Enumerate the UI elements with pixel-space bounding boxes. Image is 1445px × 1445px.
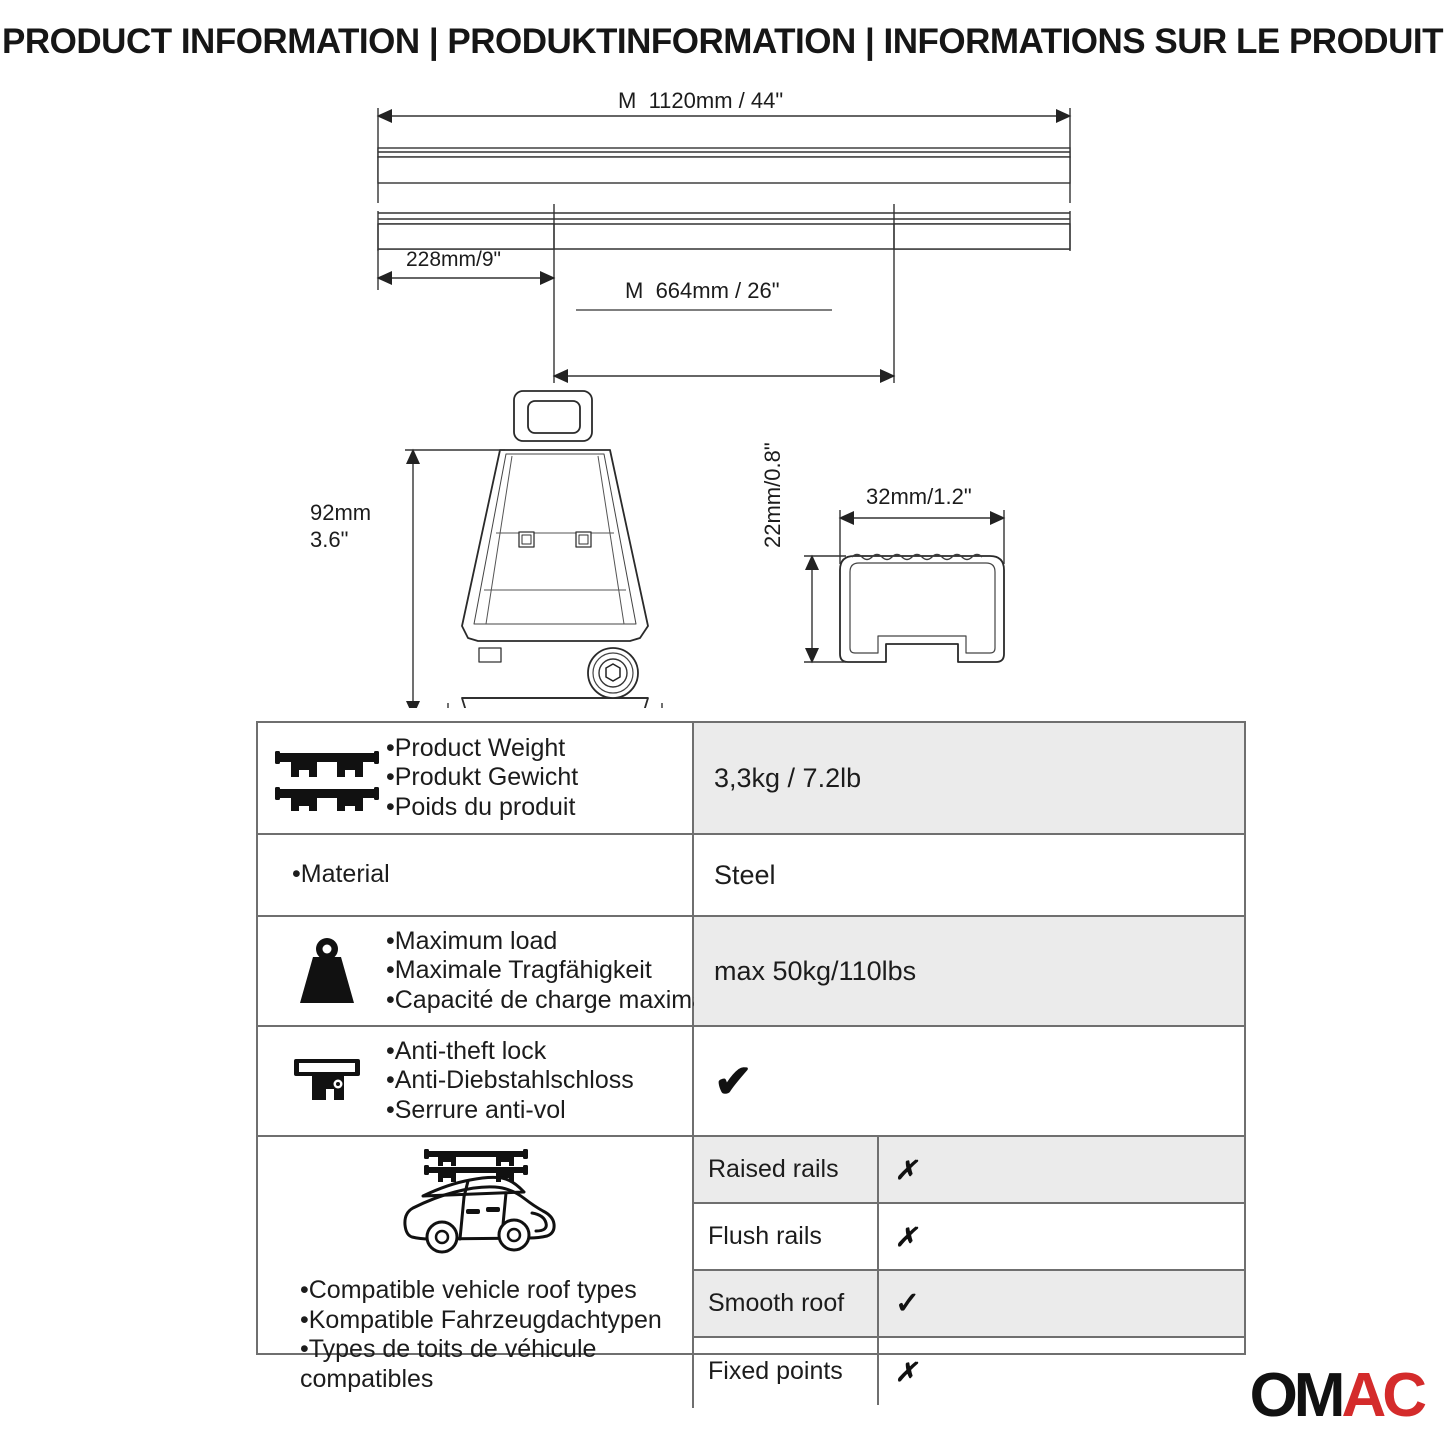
logo-text-dark: OM [1250, 1361, 1342, 1430]
crossbars-icon [268, 745, 386, 811]
table-row-max-load: •Maximum load •Maximale Tragfähigkeit •C… [258, 917, 1244, 1027]
roof-type-flush-rails: Flush rails ✗ [694, 1204, 1244, 1271]
dim-bar-spacing: M 664mm / 26" [625, 278, 780, 304]
omac-logo: OMAC [1250, 1365, 1423, 1427]
row-labels: •Anti-theft lock •Anti-Diebstahlschloss … [386, 1037, 634, 1126]
label-de: •Maximale Tragfähigkeit [386, 956, 725, 986]
roof-type-value: ✗ [879, 1204, 1244, 1269]
row-value-anti-theft-lock: ✔ [694, 1027, 1244, 1135]
row-labels: •Product Weight •Produkt Gewicht •Poids … [386, 734, 578, 823]
dim-bar-length: M 1120mm / 44" [618, 88, 783, 114]
label-en: •Anti-theft lock [386, 1037, 634, 1067]
label-de: •Produkt Gewicht [386, 763, 578, 793]
lock-icon [268, 1053, 386, 1109]
check-icon: ✔ [714, 1058, 753, 1104]
label-en: •Material [292, 860, 390, 890]
roof-type-value: ✓ [879, 1271, 1244, 1336]
label-en: •Product Weight [386, 734, 578, 764]
label-de: •Kompatible Fahrzeugdachtypen [300, 1306, 662, 1336]
row-label-cell: •Product Weight •Produkt Gewicht •Poids … [258, 723, 694, 833]
cross-icon: ✗ [895, 1157, 917, 1183]
roof-labels: •Compatible vehicle roof types •Kompatib… [264, 1276, 662, 1394]
roof-label-cell: •Compatible vehicle roof types •Kompatib… [258, 1137, 694, 1408]
roof-type-smooth-roof: Smooth roof ✓ [694, 1271, 1244, 1338]
label-de: •Anti-Diebstahlschloss [386, 1066, 634, 1096]
row-labels: •Material [292, 860, 390, 890]
label-fr: •Serrure anti-vol [386, 1096, 634, 1126]
label-fr: •Types de toits de véhicule [300, 1335, 662, 1365]
dim-profile-width: 32mm/1.2" [866, 484, 972, 510]
row-value-weight: 3,3kg / 7.2lb [694, 723, 1244, 833]
roof-type-fixed-points: Fixed points ✗ [694, 1338, 1244, 1405]
logo-text-red: AC [1341, 1361, 1423, 1430]
roof-type-name: Fixed points [694, 1338, 879, 1405]
row-value-max-load: max 50kg/110lbs [694, 917, 1244, 1025]
roof-type-name: Raised rails [694, 1137, 879, 1202]
table-row-weight: •Product Weight •Produkt Gewicht •Poids … [258, 723, 1244, 835]
roof-type-value: ✗ [879, 1338, 1244, 1405]
roof-type-name: Smooth roof [694, 1271, 879, 1336]
cross-icon: ✗ [895, 1224, 917, 1250]
product-information-page: PRODUCT INFORMATION | PRODUKTINFORMATION… [0, 0, 1445, 1445]
roof-type-raised-rails: Raised rails ✗ [694, 1137, 1244, 1204]
dim-profile-height: 22mm/0.8" [760, 442, 786, 548]
table-row-material: •Material Steel [258, 835, 1244, 917]
label-fr: •Poids du produit [386, 793, 578, 823]
dim-foot-height: 92mm 3.6" [310, 500, 371, 554]
page-title: PRODUCT INFORMATION | PRODUKTINFORMATION… [0, 22, 1445, 62]
table-row-roof-types: •Compatible vehicle roof types •Kompatib… [258, 1137, 1244, 1408]
roof-type-value: ✗ [879, 1137, 1244, 1202]
car-with-rack-icon [390, 1147, 560, 1264]
row-label-cell: •Material [258, 835, 694, 915]
row-labels: •Maximum load •Maximale Tragfähigkeit •C… [386, 927, 725, 1016]
technical-drawing: M 1120mm / 44" 228mm/9" M 664mm / 26" 92… [0, 78, 1445, 708]
label-fr: •Capacité de charge maximale [386, 986, 725, 1016]
label-fr-cont: compatibles [300, 1365, 662, 1395]
cross-icon: ✗ [895, 1359, 917, 1385]
spec-table: •Product Weight •Produkt Gewicht •Poids … [256, 721, 1246, 1355]
row-value-material: Steel [694, 835, 1244, 915]
check-icon: ✓ [895, 1289, 920, 1319]
table-row-anti-theft-lock: •Anti-theft lock •Anti-Diebstahlschloss … [258, 1027, 1244, 1137]
row-label-cell: •Anti-theft lock •Anti-Diebstahlschloss … [258, 1027, 694, 1135]
drawing-svg [0, 78, 1445, 708]
label-en: •Compatible vehicle roof types [300, 1276, 662, 1306]
label-en: •Maximum load [386, 927, 725, 957]
row-label-cell: •Maximum load •Maximale Tragfähigkeit •C… [258, 917, 694, 1025]
roof-types-list: Raised rails ✗ Flush rails ✗ Smooth roof… [694, 1137, 1244, 1408]
dim-foot-offset: 228mm/9" [406, 248, 501, 272]
roof-type-name: Flush rails [694, 1204, 879, 1269]
weight-icon [268, 937, 386, 1005]
